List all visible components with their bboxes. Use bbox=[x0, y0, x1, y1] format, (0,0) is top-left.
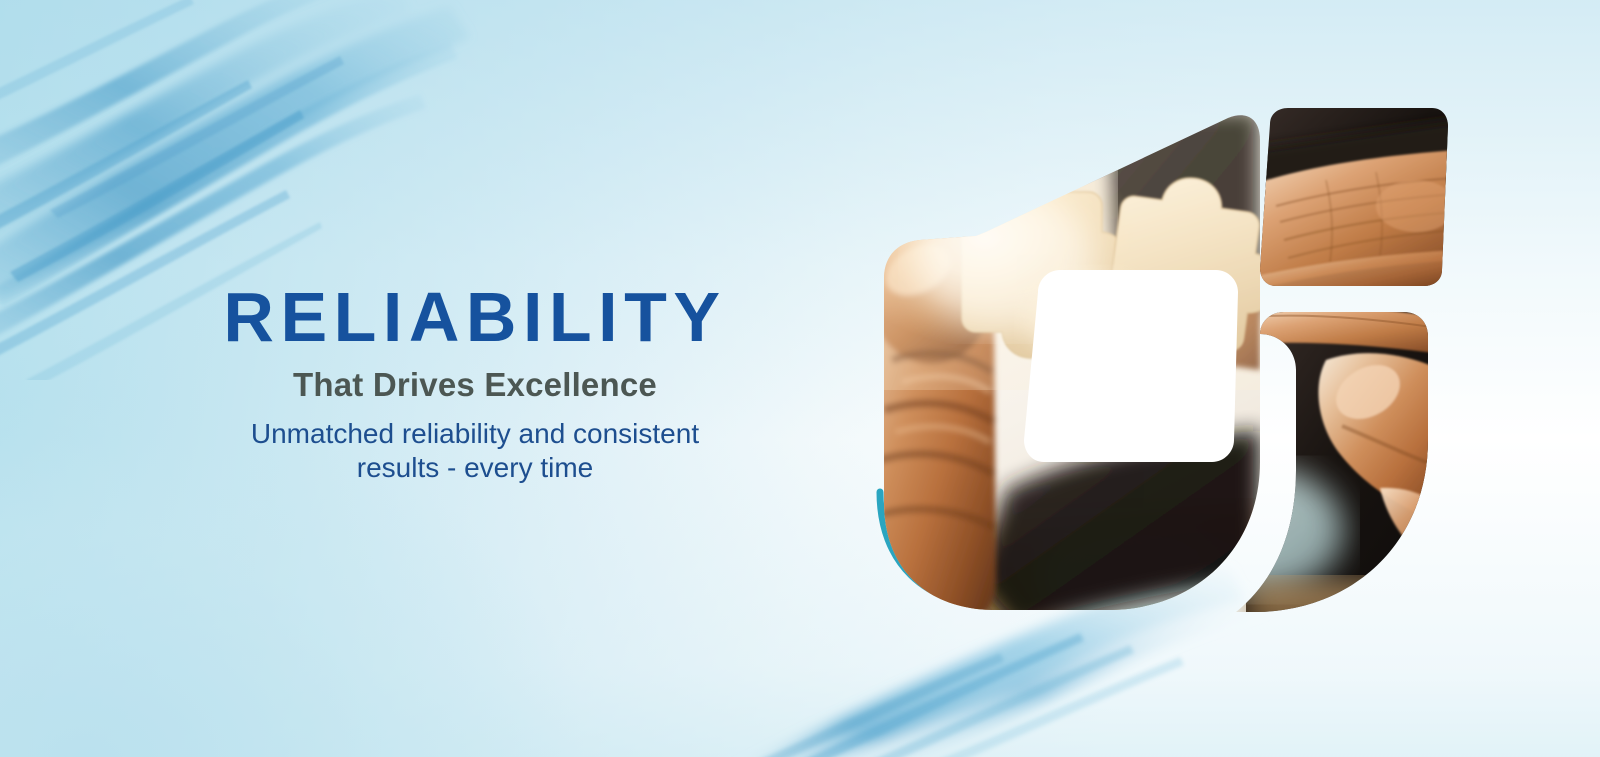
top-right-photo-tile bbox=[1246, 100, 1466, 300]
photo-collage-logo bbox=[856, 110, 1456, 630]
collage-svg bbox=[856, 110, 1456, 630]
description-text: Unmatched reliability and consistent res… bbox=[225, 417, 725, 485]
copy-block: RELIABILITY That Drives Excellence Unmat… bbox=[150, 282, 800, 485]
reliability-banner: RELIABILITY That Drives Excellence Unmat… bbox=[0, 0, 1600, 757]
center-white-square bbox=[1024, 270, 1238, 462]
subheading: That Drives Excellence bbox=[150, 368, 800, 403]
page-title: RELIABILITY bbox=[150, 282, 800, 352]
